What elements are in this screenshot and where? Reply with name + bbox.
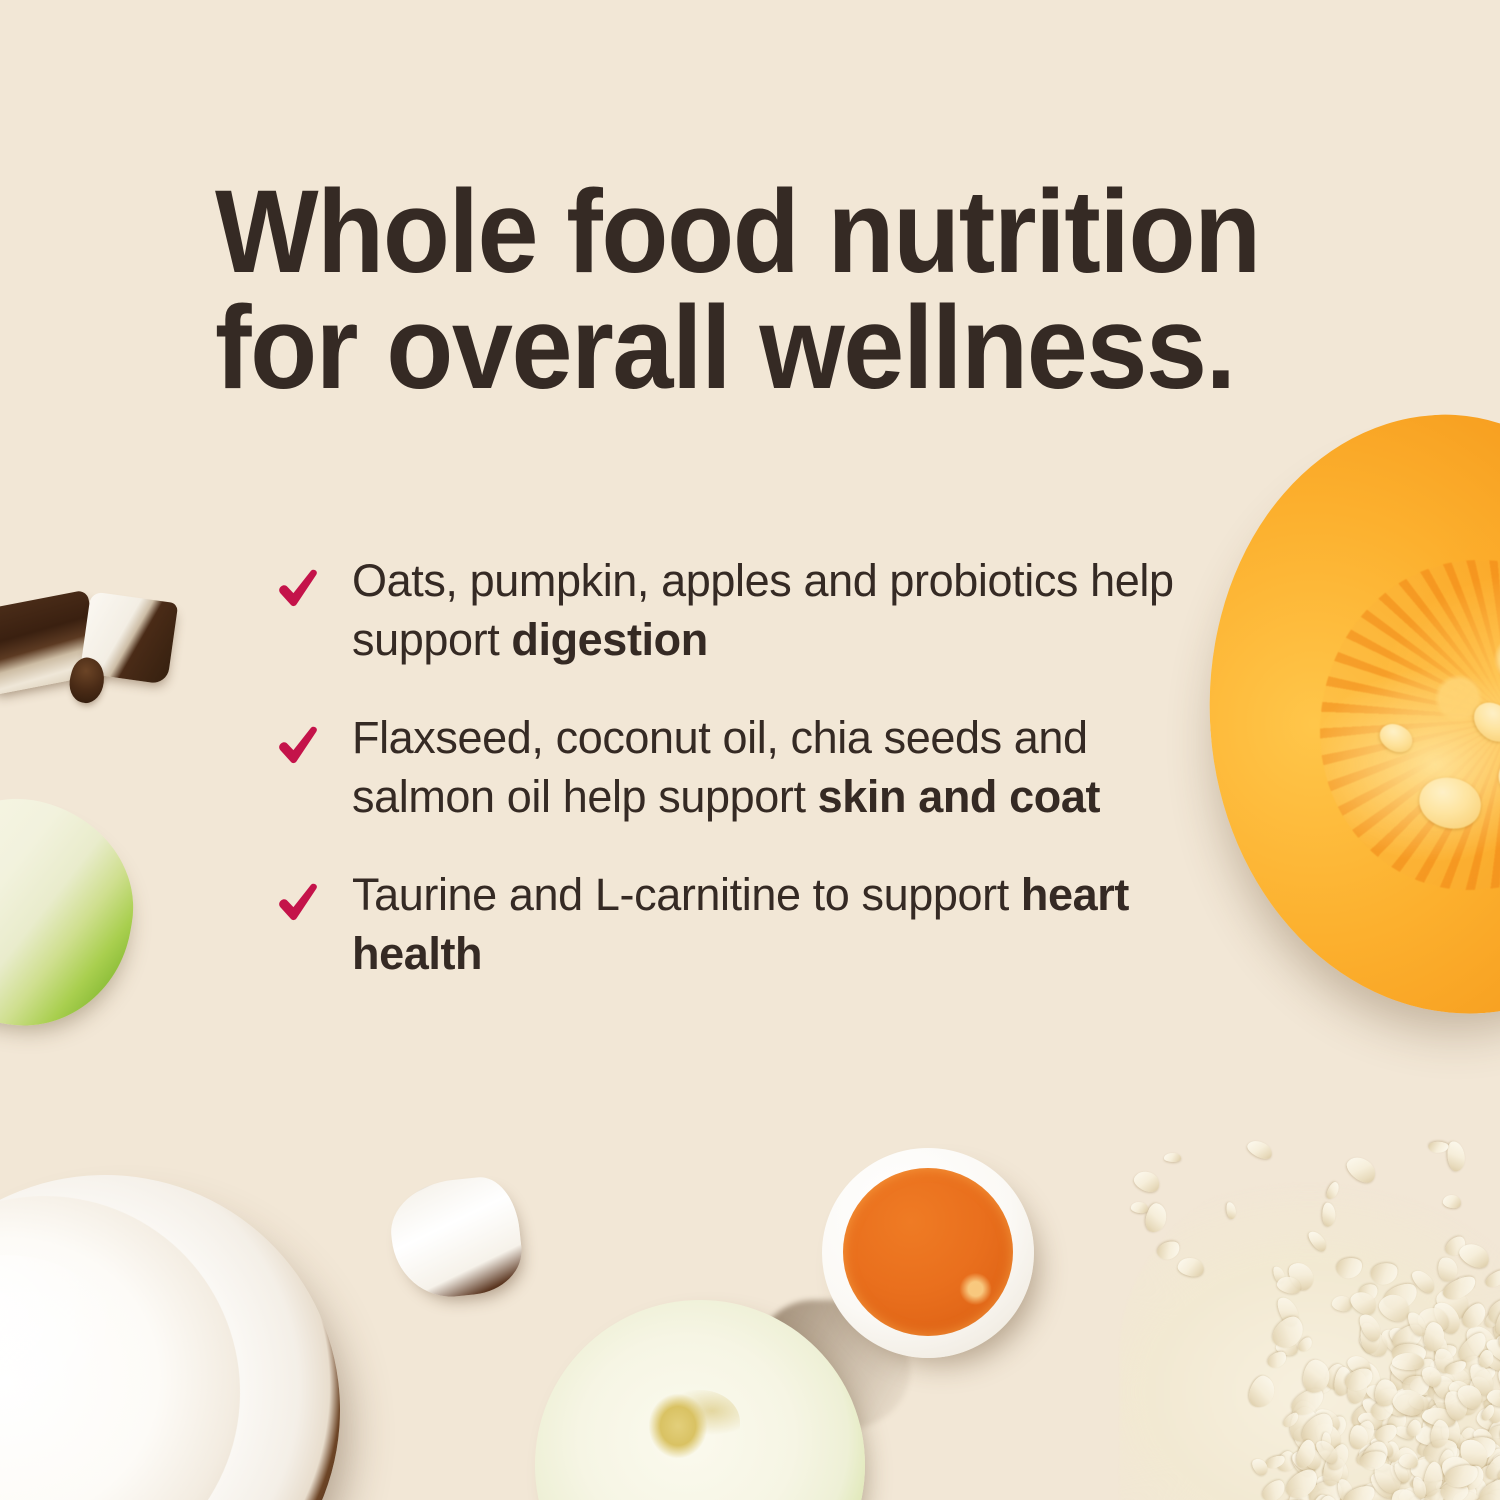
headline-line-2: for overall wellness. <box>215 291 1247 407</box>
list-item-text-regular: Taurine and L-carnitine to support <box>352 869 1021 920</box>
check-icon <box>276 880 322 926</box>
list-item-text: Taurine and L-carnitine to support heart… <box>352 869 1129 979</box>
list-item-text: Flaxseed, coconut oil, chia seeds and sa… <box>352 712 1100 822</box>
benefits-list: Oats, pumpkin, apples and probiotics hel… <box>276 552 1236 983</box>
page-title: Whole food nutrition for overall wellnes… <box>215 175 1247 406</box>
list-item-text-bold: skin and coat <box>818 771 1100 822</box>
list-item-text-regular: Oats, pumpkin, apples and probiotics hel… <box>352 555 1174 665</box>
list-item: Taurine and L-carnitine to support heart… <box>276 866 1236 983</box>
list-item-text: Oats, pumpkin, apples and probiotics hel… <box>352 555 1174 665</box>
list-item-text-bold: digestion <box>511 614 707 665</box>
list-item: Oats, pumpkin, apples and probiotics hel… <box>276 552 1236 669</box>
check-icon <box>276 723 322 769</box>
list-item: Flaxseed, coconut oil, chia seeds and sa… <box>276 709 1236 826</box>
headline-line-1: Whole food nutrition <box>215 175 1247 291</box>
check-icon <box>276 566 322 612</box>
promo-banner: Whole food nutrition for overall wellnes… <box>0 0 1500 1500</box>
